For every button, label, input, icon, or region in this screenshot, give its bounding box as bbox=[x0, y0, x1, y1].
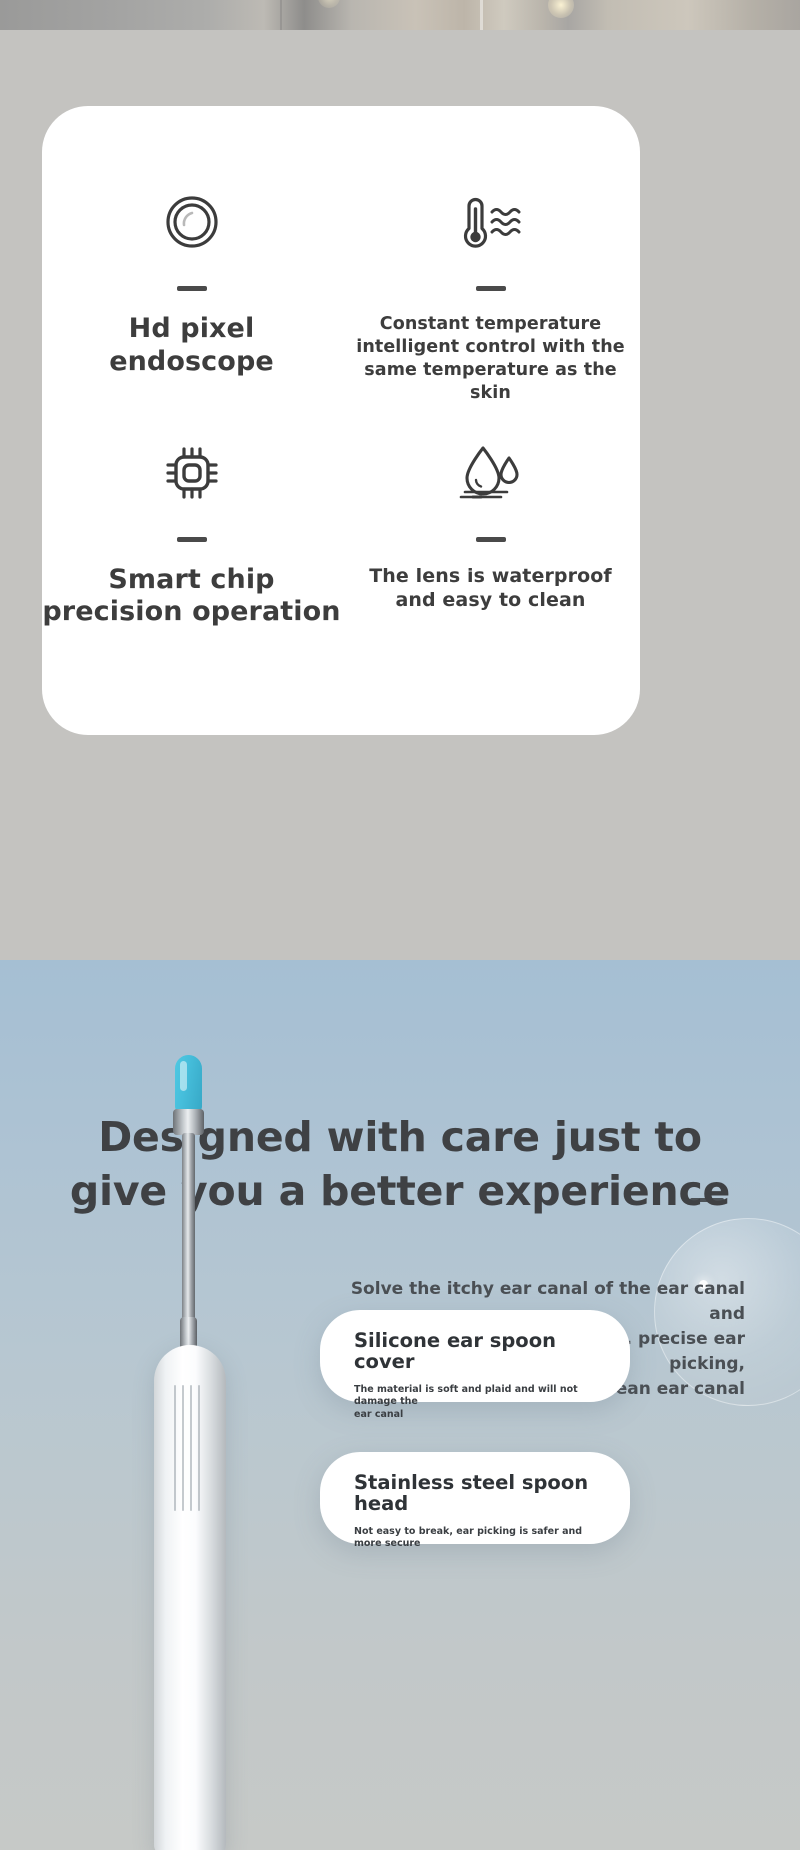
feature-label: Constant temperature intelligent control… bbox=[341, 313, 640, 405]
callout-description: Not easy to break, ear picking is safer … bbox=[354, 1526, 596, 1551]
feature-divider bbox=[476, 286, 506, 291]
feature-item-hd-pixel: Hd pixel endoscope bbox=[42, 106, 341, 421]
photo-seam-left bbox=[280, 0, 282, 30]
tip-collar bbox=[173, 1109, 204, 1135]
feature-item-waterproof: The lens is waterproof and easy to clean bbox=[341, 421, 640, 736]
features-grid: Hd pixel endoscope bbox=[42, 106, 640, 735]
hero-section: Designed with care just to give you a be… bbox=[0, 960, 800, 1850]
feature-label: The lens is waterproof and easy to clean bbox=[369, 564, 612, 613]
handle-grip-ribs bbox=[174, 1385, 206, 1511]
feature-label: Hd pixel endoscope bbox=[109, 313, 274, 379]
thermometer-waves-icon bbox=[452, 190, 530, 254]
product-photo-band bbox=[0, 0, 800, 30]
features-card: Hd pixel endoscope bbox=[42, 106, 640, 735]
water-drop-icon bbox=[457, 441, 525, 505]
hero-heading: Designed with care just to give you a be… bbox=[0, 1110, 800, 1218]
photo-highlight-right bbox=[548, 0, 574, 18]
photo-highlight-left bbox=[318, 0, 340, 8]
tip-highlight bbox=[180, 1061, 187, 1091]
cpu-chip-icon bbox=[161, 441, 223, 505]
feature-item-smart-chip: Smart chip precision operation bbox=[42, 421, 341, 736]
callout-card-steel-head: Stainless steel spoon head Not easy to b… bbox=[320, 1452, 630, 1544]
feature-label: Smart chip precision operation bbox=[42, 564, 340, 630]
feature-divider bbox=[177, 537, 207, 542]
metal-shaft bbox=[182, 1133, 195, 1339]
product-landing-page: Hd pixel endoscope bbox=[0, 0, 800, 1850]
feature-item-constant-temperature: Constant temperature intelligent control… bbox=[341, 106, 640, 421]
callout-title: Stainless steel spoon head bbox=[354, 1472, 596, 1515]
callout-description: The material is soft and plaid and will … bbox=[354, 1384, 596, 1422]
feature-divider bbox=[476, 537, 506, 542]
photo-seam-right bbox=[480, 0, 483, 30]
product-image-ear-cleaner bbox=[148, 1055, 258, 1850]
callout-title: Silicone ear spoon cover bbox=[354, 1330, 596, 1373]
callout-card-silicone-cover: Silicone ear spoon cover The material is… bbox=[320, 1310, 630, 1402]
feature-divider bbox=[177, 286, 207, 291]
features-section: Hd pixel endoscope bbox=[0, 30, 800, 960]
camera-lens-icon bbox=[162, 190, 222, 254]
